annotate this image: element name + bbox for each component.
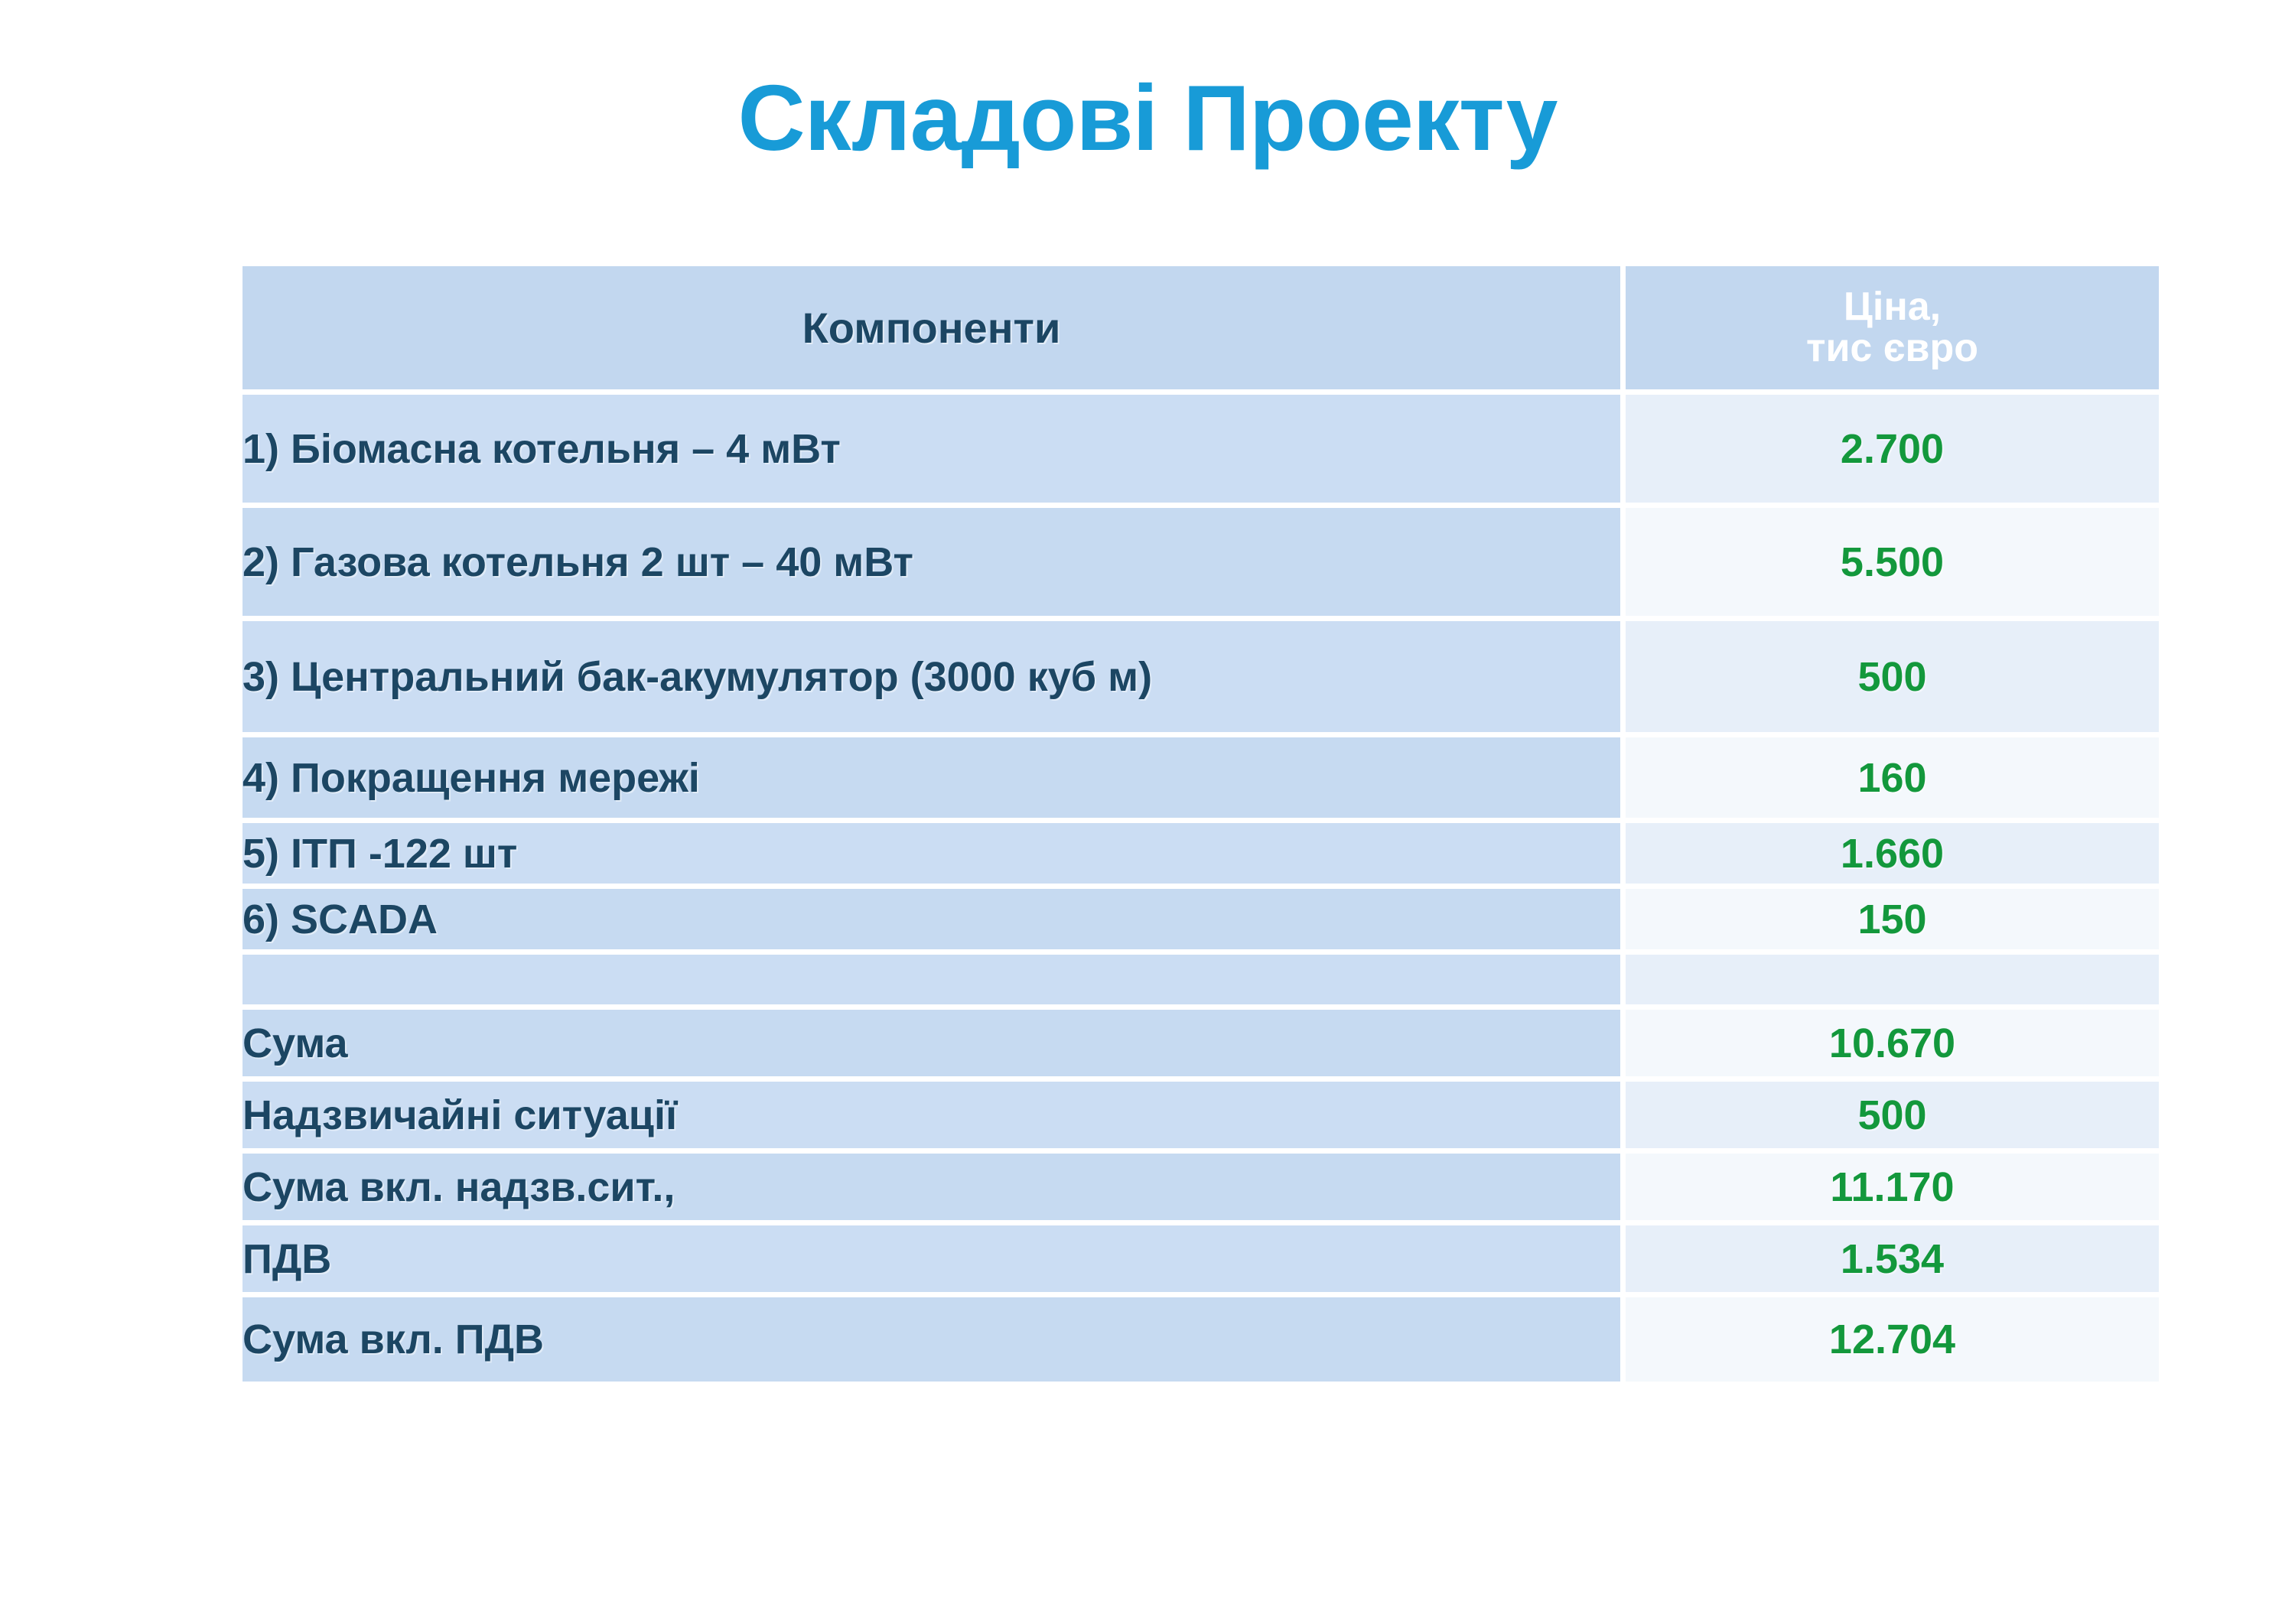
row-component-label: 4) Покращення мережі xyxy=(243,737,1626,823)
row-price-value: 1.660 xyxy=(1626,823,2159,889)
row-price-value: 500 xyxy=(1626,1082,2159,1154)
table-row-empty xyxy=(243,955,2159,1010)
table-row: Сума вкл. ПДВ 12.704 xyxy=(243,1297,2159,1382)
row-component-label: 6) SCADA xyxy=(243,889,1626,955)
table-body: 1) Біомасна котельня – 4 мВт 2.700 2) Га… xyxy=(243,395,2159,1382)
row-price-value: 10.670 xyxy=(1626,1010,2159,1082)
table-row: 6) SCADA 150 xyxy=(243,889,2159,955)
row-price-value: 150 xyxy=(1626,889,2159,955)
table-header: Компоненти Ціна, тис євро xyxy=(243,266,2159,395)
column-header-price-line2: тис євро xyxy=(1626,328,2159,369)
table-row: Надзвичайні ситуації 500 xyxy=(243,1082,2159,1154)
row-component-label: 2) Газова котельня 2 шт – 40 мВт xyxy=(243,508,1626,621)
page-title: Складові Проекту xyxy=(0,69,2295,167)
row-price-value: 1.534 xyxy=(1626,1225,2159,1297)
row-component-label: Сума xyxy=(243,1010,1626,1082)
row-component-label xyxy=(243,955,1626,1010)
row-component-label: ПДВ xyxy=(243,1225,1626,1297)
column-header-price-line1: Ціна, xyxy=(1626,287,2159,327)
row-price-value: 2.700 xyxy=(1626,395,2159,508)
row-price-value: 160 xyxy=(1626,737,2159,823)
table-row: 5) ІТП -122 шт 1.660 xyxy=(243,823,2159,889)
row-component-label: 1) Біомасна котельня – 4 мВт xyxy=(243,395,1626,508)
components-price-table: Компоненти Ціна, тис євро 1) Біомасна ко… xyxy=(243,266,2159,1382)
row-price-value: 5.500 xyxy=(1626,508,2159,621)
row-component-label: Надзвичайні ситуації xyxy=(243,1082,1626,1154)
table-row: ПДВ 1.534 xyxy=(243,1225,2159,1297)
column-header-components: Компоненти xyxy=(243,266,1626,395)
table-row: 4) Покращення мережі 160 xyxy=(243,737,2159,823)
row-price-value xyxy=(1626,955,2159,1010)
row-component-label: 5) ІТП -122 шт xyxy=(243,823,1626,889)
row-component-label: 3) Центральний бак-акумулятор (3000 куб … xyxy=(243,621,1626,737)
row-price-value: 11.170 xyxy=(1626,1154,2159,1225)
table-header-row: Компоненти Ціна, тис євро xyxy=(243,266,2159,395)
table-row: 3) Центральний бак-акумулятор (3000 куб … xyxy=(243,621,2159,737)
row-component-label: Сума вкл. ПДВ xyxy=(243,1297,1626,1382)
row-price-value: 12.704 xyxy=(1626,1297,2159,1382)
column-header-price: Ціна, тис євро xyxy=(1626,266,2159,395)
table-row: Сума вкл. надзв.сит., 11.170 xyxy=(243,1154,2159,1225)
row-price-value: 500 xyxy=(1626,621,2159,737)
table-row: 1) Біомасна котельня – 4 мВт 2.700 xyxy=(243,395,2159,508)
row-component-label: Сума вкл. надзв.сит., xyxy=(243,1154,1626,1225)
table-row: Сума 10.670 xyxy=(243,1010,2159,1082)
table-row: 2) Газова котельня 2 шт – 40 мВт 5.500 xyxy=(243,508,2159,621)
